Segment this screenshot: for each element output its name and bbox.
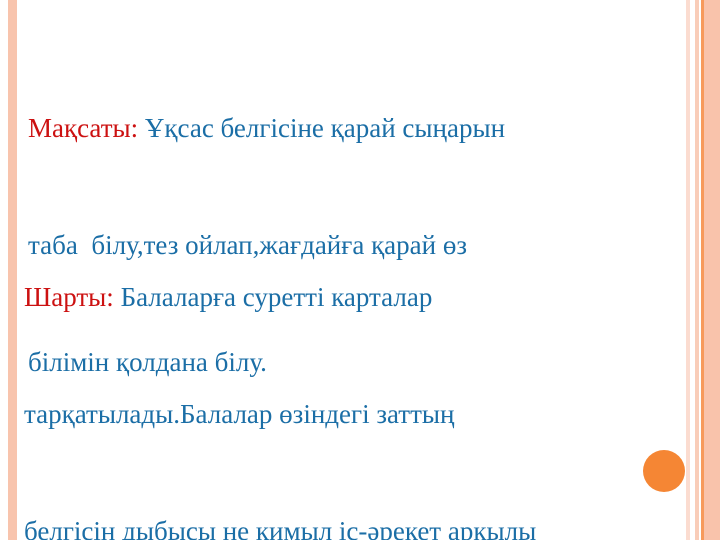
condition-paragraph: Шарты: Балаларға суретті карталар тарқат… xyxy=(24,200,536,540)
condition-label: Шарты: xyxy=(24,282,114,312)
slide-content: Мақсаты: Ұқсас белгісіне қарай сыңарын т… xyxy=(0,0,686,540)
right-border-stripe-thin-1 xyxy=(686,0,690,540)
condition-line-3: белгісін дыбысы не қимыл іс-әрекет арқыл… xyxy=(24,512,536,540)
condition-line-2: тарқатылады.Балалар өзіндегі заттың xyxy=(24,395,536,434)
right-border-stripe-wide xyxy=(704,0,720,540)
right-border-stripe-thin-2 xyxy=(695,0,699,540)
aim-line-1: Ұқсас белгісіне қарай сыңарын xyxy=(138,113,505,143)
presentation-slide: Мақсаты: Ұқсас белгісіне қарай сыңарын т… xyxy=(0,0,720,540)
aim-first-line: Мақсаты: Ұқсас белгісіне қарай сыңарын xyxy=(28,109,505,148)
condition-first-line: Шарты: Балаларға суретті карталар xyxy=(24,278,536,317)
aim-label: Мақсаты: xyxy=(28,113,138,143)
condition-line-1: Балаларға суретті карталар xyxy=(114,282,433,312)
